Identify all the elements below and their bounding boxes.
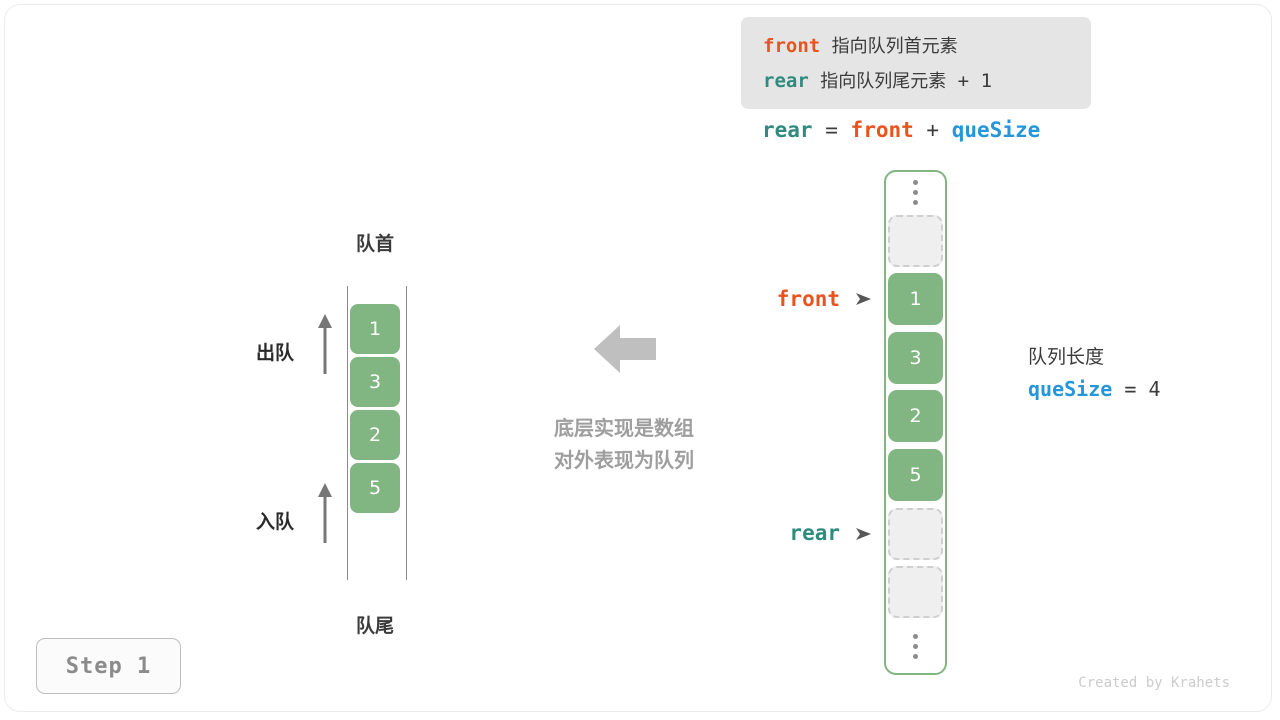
formula-plus: + (926, 118, 939, 142)
front-pointer-arrow-icon (855, 291, 873, 307)
queue-rail-right (406, 286, 407, 580)
legend-rear-text: 指向队列尾元素 (820, 71, 946, 92)
dequeue-up-arrow-icon (314, 313, 336, 375)
quesize-name: queSize (1028, 377, 1112, 401)
queue-tail-label: 队尾 (343, 611, 407, 638)
array-slot-filled: 5 (888, 449, 943, 501)
left-arrow-icon (594, 321, 656, 377)
array-slot-filled: 3 (888, 332, 943, 384)
queue-head-label: 队首 (343, 229, 407, 256)
legend-line-rear: rear 指向队列尾元素 + 1 (763, 64, 1091, 99)
formula-front: front (851, 118, 914, 142)
legend-line-front: front 指向队列首元素 (763, 29, 1091, 64)
array-top-ellipsis-icon (908, 180, 923, 205)
array-slot-empty (888, 566, 943, 618)
quesize-value: 4 (1148, 377, 1160, 401)
queue-item: 5 (350, 463, 400, 513)
step-badge: Step 1 (36, 638, 181, 694)
legend-rear-keyword: rear (763, 70, 809, 92)
array-slot-empty (888, 508, 943, 560)
queue-item: 3 (350, 357, 400, 407)
legend-front-keyword: front (763, 35, 820, 57)
dequeue-label: 出队 (256, 338, 294, 365)
enqueue-up-arrow-icon (314, 482, 336, 544)
rear-pointer-label: rear (700, 521, 840, 545)
center-annotation-line1: 底层实现是数组 (520, 412, 728, 444)
formula-rear: rear (762, 118, 813, 142)
center-annotation: 底层实现是数组 对外表现为队列 (520, 412, 728, 476)
queue-item: 1 (350, 304, 400, 354)
queue-rail-left (347, 286, 348, 580)
legend-rear-plus: + (958, 70, 969, 92)
credit-text: Created by Krahets (1000, 675, 1230, 691)
quesize-equals: = (1124, 377, 1136, 401)
array-slot-filled: 2 (888, 390, 943, 442)
legend-front-text: 指向队列首元素 (832, 36, 958, 57)
array-slot-empty (888, 215, 943, 267)
rear-formula: rear = front + queSize (762, 118, 1040, 142)
array-bottom-ellipsis-icon (908, 634, 923, 659)
center-annotation-line2: 对外表现为队列 (520, 444, 728, 476)
quesize-note-title: 队列长度 (1028, 342, 1160, 372)
quesize-note: 队列长度 queSize = 4 (1028, 342, 1160, 406)
formula-quesize: queSize (952, 118, 1041, 142)
enqueue-label: 入队 (256, 507, 294, 534)
rear-pointer-arrow-icon (855, 526, 873, 542)
formula-equals: = (825, 118, 838, 142)
front-pointer-label: front (700, 287, 840, 311)
diagram-canvas: front 指向队列首元素 rear 指向队列尾元素 + 1 rear = fr… (0, 0, 1280, 720)
array-slot-filled: 1 (888, 273, 943, 325)
quesize-note-value: queSize = 4 (1028, 372, 1160, 406)
legend-rear-one: 1 (981, 70, 992, 92)
queue-item: 2 (350, 410, 400, 460)
pointer-legend-box: front 指向队列首元素 rear 指向队列尾元素 + 1 (741, 17, 1091, 109)
